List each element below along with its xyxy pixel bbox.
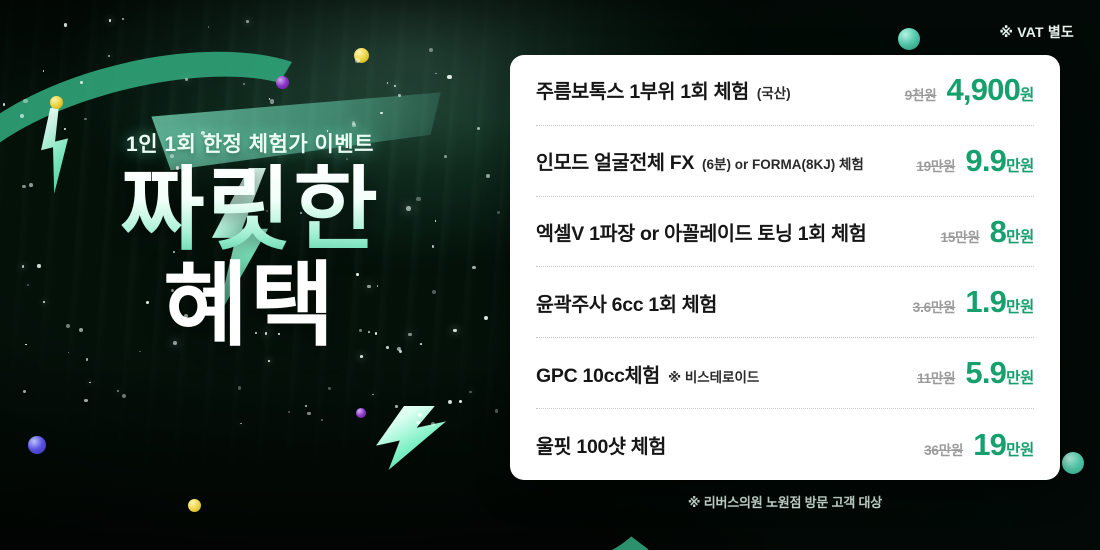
price-row-label: 울핏 100샷 체험 — [536, 430, 666, 459]
price-row-label-group: 윤곽주사 6cc 1회 체험 — [536, 288, 717, 317]
price-discounted-number: 1.9 — [965, 284, 1006, 320]
price-discounted-unit: 원 — [1020, 83, 1034, 105]
price-row-label-group: 주름보톡스 1부위 1회 체험(국산) — [536, 75, 791, 104]
price-row-price-group: 19만원9.9만원 — [916, 143, 1034, 179]
price-discounted: 9.9만원 — [965, 143, 1034, 179]
price-row-price-group: 36만원19만원 — [924, 427, 1034, 463]
price-discounted-unit: 만원 — [1006, 154, 1034, 176]
sphere-purple-decoration — [356, 408, 366, 418]
price-row: GPC 10cc체험※ 비스테로이드11만원5.9만원 — [536, 338, 1034, 409]
price-row-label: 주름보톡스 1부위 1회 체험 — [536, 75, 749, 104]
price-discounted: 8만원 — [990, 214, 1034, 250]
price-list-card: 주름보톡스 1부위 1회 체험(국산)9천원4,900원인모드 얼굴전체 FX(… — [510, 55, 1060, 480]
price-original-struck: 9천원 — [905, 84, 937, 104]
promo-banner: 1인 1회 한정 체험가 이벤트 짜릿한 혜택 ※ VAT 별도 주름보톡스 1… — [0, 0, 1100, 550]
price-original-struck: 3.6만원 — [913, 296, 956, 316]
price-row-label-group: GPC 10cc체험※ 비스테로이드 — [536, 359, 759, 388]
price-row-price-group: 11만원5.9만원 — [917, 355, 1034, 391]
price-row: 주름보톡스 1부위 1회 체험(국산)9천원4,900원 — [536, 55, 1034, 126]
price-row: 인모드 얼굴전체 FX(6분) or FORMA(8KJ) 체험19만원9.9만… — [536, 126, 1034, 197]
price-row-note: ※ 비스테로이드 — [668, 366, 759, 386]
price-discounted-unit: 만원 — [1006, 295, 1034, 317]
price-row-price-group: 9천원4,900원 — [905, 72, 1034, 108]
sphere-yellow-decoration — [354, 48, 369, 63]
price-row-label: GPC 10cc체험 — [536, 359, 660, 388]
price-original-struck: 11만원 — [917, 367, 955, 387]
price-row-label-group: 울핏 100샷 체험 — [536, 430, 666, 459]
headline-line-1-text: 짜릿한 — [120, 159, 380, 261]
footer-note: ※ 리버스의원 노원점 방문 고객 대상 — [510, 492, 1060, 511]
price-row-label: 윤곽주사 6cc 1회 체험 — [536, 288, 717, 317]
sphere-teal-decoration — [1062, 452, 1084, 474]
headline-eyebrow: 1인 1회 한정 체험가 이벤트 — [0, 128, 500, 158]
price-row-price-group: 15만원8만원 — [941, 214, 1034, 250]
headline-line-2: 혜택 — [0, 260, 500, 354]
sphere-yellow-decoration — [50, 96, 63, 109]
price-discounted-unit: 만원 — [1006, 366, 1034, 388]
price-row-label-sub: (6분) or FORMA(8KJ) 체험 — [702, 153, 864, 173]
price-row-price-group: 3.6만원1.9만원 — [913, 284, 1034, 320]
price-discounted: 4,900원 — [946, 72, 1034, 108]
price-discounted: 1.9만원 — [965, 284, 1034, 320]
price-discounted-unit: 만원 — [1006, 438, 1034, 460]
price-row: 윤곽주사 6cc 1회 체험3.6만원1.9만원 — [536, 267, 1034, 338]
price-row-label-sub: (국산) — [757, 82, 791, 102]
price-original-struck: 15만원 — [941, 226, 980, 246]
price-discounted: 19만원 — [973, 427, 1034, 463]
price-discounted-number: 5.9 — [965, 355, 1006, 391]
headline-line-1: 짜릿한 — [0, 164, 500, 258]
price-discounted-unit: 만원 — [1006, 225, 1034, 247]
headline-block: 1인 1회 한정 체험가 이벤트 짜릿한 혜택 — [0, 128, 500, 354]
price-discounted-number: 4,900 — [946, 72, 1020, 108]
price-row-label: 인모드 얼굴전체 FX — [536, 146, 694, 175]
sphere-teal-decoration — [898, 28, 920, 50]
price-discounted-number: 9.9 — [965, 143, 1006, 179]
price-row: 울핏 100샷 체험36만원19만원 — [536, 409, 1034, 480]
price-row-label-group: 인모드 얼굴전체 FX(6분) or FORMA(8KJ) 체험 — [536, 146, 864, 175]
vat-note: ※ VAT 별도 — [999, 22, 1074, 42]
sphere-blue-decoration — [28, 436, 46, 454]
price-row-label: 엑셀V 1파장 or 아꼴레이드 토닝 1회 체험 — [536, 217, 866, 246]
price-discounted: 5.9만원 — [965, 355, 1034, 391]
price-row-label-group: 엑셀V 1파장 or 아꼴레이드 토닝 1회 체험 — [536, 217, 866, 246]
price-discounted-number: 19 — [973, 427, 1006, 463]
sphere-purple-decoration — [276, 76, 289, 89]
price-original-struck: 19만원 — [916, 155, 955, 175]
price-original-struck: 36만원 — [924, 439, 963, 459]
price-row: 엑셀V 1파장 or 아꼴레이드 토닝 1회 체험15만원8만원 — [536, 197, 1034, 268]
sphere-yellow-decoration — [188, 499, 201, 512]
price-discounted-number: 8 — [990, 214, 1006, 250]
